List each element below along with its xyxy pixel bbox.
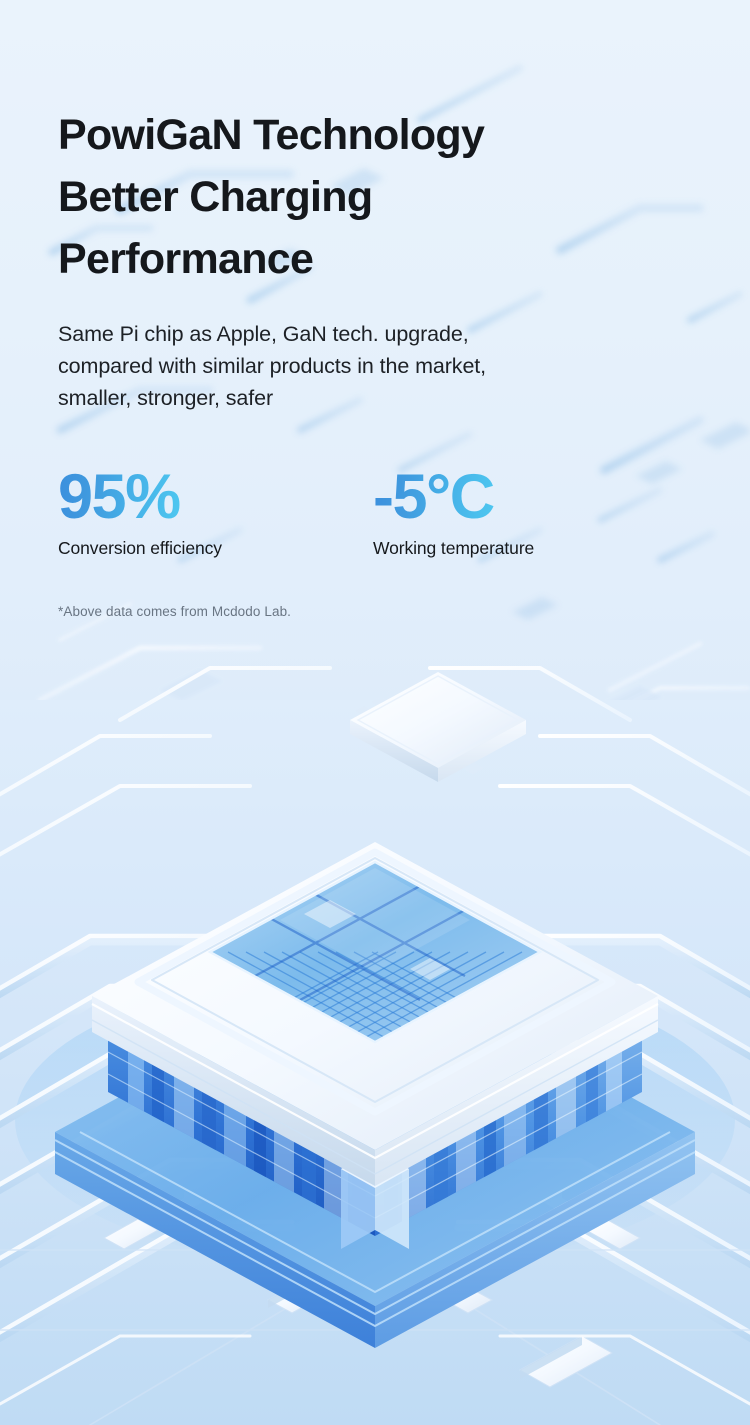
stat-value: 95% (58, 462, 180, 532)
text-content: PowiGaN Technology Better Charging Perfo… (0, 0, 750, 622)
stat-working-temperature: -5°C Working temperature (373, 462, 534, 560)
footnote: *Above data comes from Mcdodo Lab. (58, 602, 750, 622)
headline-line-1: PowiGaN Technology (58, 104, 698, 166)
subhead-line-1: Same Pi chip as Apple, GaN tech. upgrade… (58, 318, 678, 350)
product-feature-page: PowiGaN Technology Better Charging Perfo… (0, 0, 750, 1425)
subhead-line-2: compared with similar products in the ma… (58, 350, 678, 382)
subhead-line-3: smaller, stronger, safer (58, 382, 678, 414)
page-subtitle: Same Pi chip as Apple, GaN tech. upgrade… (58, 318, 678, 414)
stat-conversion-efficiency: 95% Conversion efficiency (58, 462, 373, 560)
stat-label: Conversion efficiency (58, 536, 373, 560)
headline-line-2: Better Charging (58, 166, 698, 228)
headline-line-3: Performance (58, 228, 698, 290)
stats-row: 95% Conversion efficiency -5°C Working t… (58, 462, 750, 560)
stat-value: -5°C (373, 462, 494, 532)
stat-label: Working temperature (373, 536, 534, 560)
page-title: PowiGaN Technology Better Charging Perfo… (58, 104, 698, 290)
